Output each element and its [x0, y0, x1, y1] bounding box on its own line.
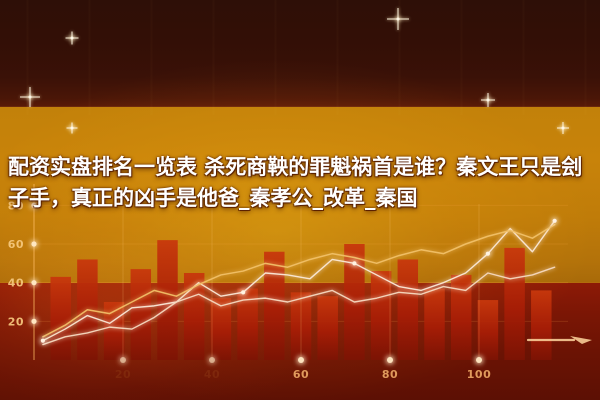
- bar: [478, 300, 498, 360]
- x-tick-dot: [120, 357, 126, 363]
- x-tick-label: 40: [204, 368, 220, 381]
- bar: [317, 296, 337, 360]
- bar: [131, 269, 151, 360]
- x-tick-label: 20: [115, 368, 131, 381]
- series-marker: [241, 290, 245, 294]
- bar: [371, 271, 391, 360]
- headline-text: 配资实盘排名一览表 杀死商鞅的罪魁祸首是谁？秦文王只是刽子手，真正的凶手是他爸_…: [8, 152, 598, 214]
- y-tick-label: 20: [8, 315, 24, 328]
- bar: [398, 259, 418, 360]
- y-tick-label: 60: [8, 238, 24, 251]
- y-axis-ticks: 20406080: [8, 199, 37, 328]
- bar: [211, 298, 231, 360]
- y-tick-dot: [31, 280, 36, 285]
- series-marker: [352, 261, 356, 265]
- bar: [424, 288, 444, 360]
- y-tick-dot: [31, 241, 36, 246]
- bar: [50, 277, 70, 360]
- bar: [264, 252, 284, 360]
- y-tick-dot: [31, 319, 36, 324]
- x-tick-dot: [476, 357, 482, 363]
- x-tick-dot: [209, 357, 215, 363]
- bar: [531, 290, 551, 360]
- y-tick-label: 40: [8, 277, 24, 290]
- series-marker: [486, 252, 490, 256]
- x-tick-dot: [298, 357, 304, 363]
- x-tick-label: 80: [382, 368, 398, 381]
- series-marker: [553, 219, 557, 223]
- bar: [157, 240, 177, 360]
- x-tick-label: 60: [293, 368, 309, 381]
- bar: [504, 248, 524, 360]
- banner-canvas: 2040608020406080100 配资实盘排名一览表 杀死商鞅的罪魁祸首是…: [0, 0, 600, 400]
- series-marker: [41, 339, 45, 343]
- x-tick-dot: [387, 357, 393, 363]
- x-tick-label: 100: [467, 368, 491, 381]
